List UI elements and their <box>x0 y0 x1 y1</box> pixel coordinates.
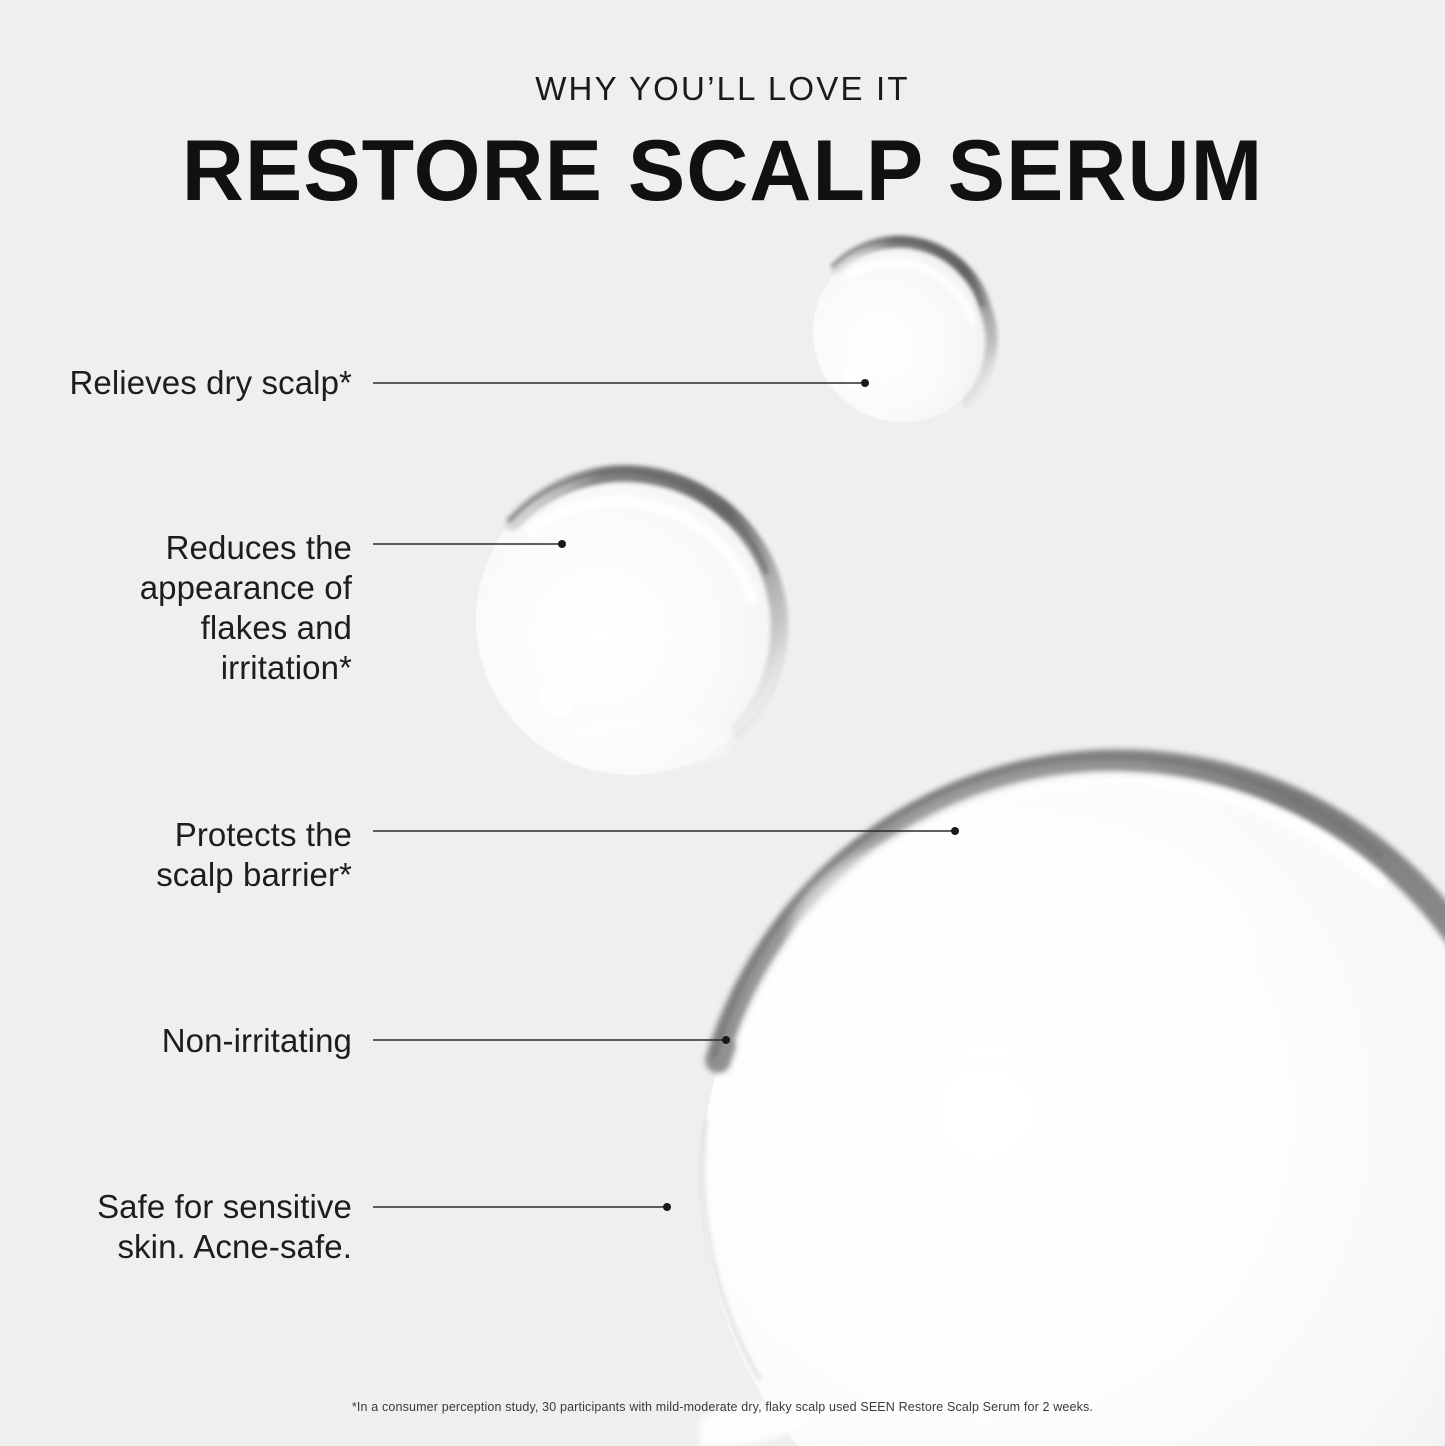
leader-line-safe-sensitive-acne-safe <box>373 1203 671 1211</box>
feature-label-relieves-dry-scalp: Relieves dry scalp* <box>0 363 352 403</box>
leader-line-protects-scalp-barrier <box>373 827 959 835</box>
feature-label-non-irritating: Non-irritating <box>0 1021 352 1061</box>
leader-line-reduces-flakes-irritation <box>373 540 566 548</box>
feature-label-protects-scalp-barrier: Protects the scalp barrier* <box>0 815 352 895</box>
leader-line-non-irritating <box>373 1036 730 1044</box>
feature-label-reduces-flakes-irritation: Reduces the appearance of flakes and irr… <box>0 528 352 688</box>
leader-line-relieves-dry-scalp <box>373 379 869 387</box>
product-benefits-graphic: WHY YOU’LL LOVE IT RESTORE SCALP SERUM <box>0 0 1445 1446</box>
feature-label-safe-sensitive-acne-safe: Safe for sensitive skin. Acne-safe. <box>0 1187 352 1267</box>
study-footnote: *In a consumer perception study, 30 part… <box>0 1400 1445 1414</box>
